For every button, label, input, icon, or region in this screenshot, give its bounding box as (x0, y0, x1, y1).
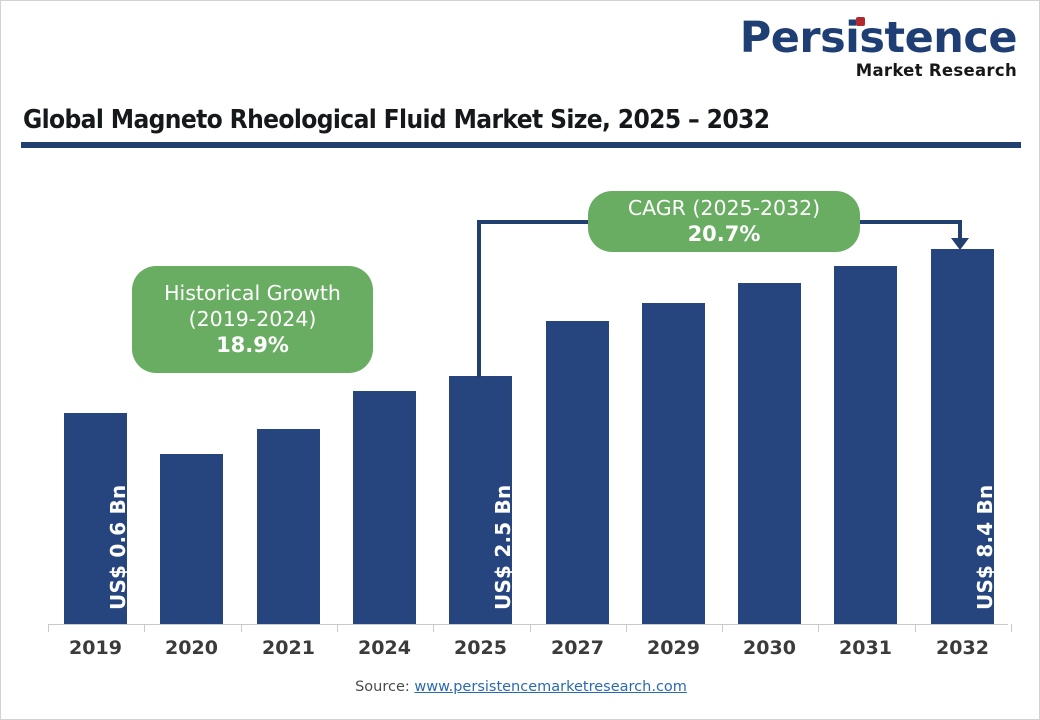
historical-growth-badge: Historical Growth (2019-2024) 18.9% (132, 266, 373, 373)
x-axis-tick-2029 (626, 624, 627, 632)
x-axis-label-2021: 2021 (241, 637, 336, 659)
cagr-connector-left-horizontal (477, 220, 593, 224)
x-axis-tick-2020 (144, 624, 145, 632)
cagr-line1: CAGR (2025-2032) (628, 195, 820, 221)
bar-value-label-2025: US$ 2.5 Bn (491, 485, 515, 610)
historical-growth-line2: (2019-2024) (189, 306, 317, 332)
bar-2027 (546, 321, 609, 624)
bar-2020 (160, 454, 223, 624)
x-axis-tick-end (1011, 624, 1012, 632)
bar-2031 (834, 266, 897, 624)
bar-value-label-2019: US$ 0.6 Bn (106, 485, 130, 610)
x-axis-label-2020: 2020 (144, 637, 239, 659)
x-axis-label-2024: 2024 (337, 637, 432, 659)
x-axis-tick-2021 (241, 624, 242, 632)
x-axis-label-2027: 2027 (530, 637, 625, 659)
bar-2024 (353, 391, 416, 624)
x-axis-tick-2019 (48, 624, 49, 632)
x-axis-label-2029: 2029 (626, 637, 721, 659)
x-axis-label-2030: 2030 (722, 637, 817, 659)
chart-page: Persistence Market Research Global Magne… (0, 0, 1040, 720)
x-axis-tick-2027 (530, 624, 531, 632)
x-axis-tick-2025 (433, 624, 434, 632)
cagr-connector-right-horizontal (856, 220, 962, 224)
bar-value-label-2032: US$ 8.4 Bn (973, 485, 997, 610)
bar-2029 (642, 303, 705, 624)
cagr-value: 20.7% (688, 221, 761, 248)
source-link[interactable]: www.persistencemarketresearch.com (414, 679, 687, 695)
source-prefix: Source: (355, 679, 414, 695)
x-axis-tick-2032 (915, 624, 916, 632)
cagr-connector-left-vertical (477, 220, 481, 378)
x-axis-tick-2030 (722, 624, 723, 632)
cagr-arrow-icon (951, 238, 969, 250)
x-axis-label-2019: 2019 (48, 637, 143, 659)
x-axis-label-2031: 2031 (818, 637, 913, 659)
historical-growth-line1: Historical Growth (164, 280, 341, 306)
x-axis-tick-2031 (818, 624, 819, 632)
x-axis-tick-2024 (337, 624, 338, 632)
cagr-badge: CAGR (2025-2032) 20.7% (588, 191, 860, 252)
x-axis-line (48, 624, 1008, 625)
x-axis-label-2025: 2025 (433, 637, 528, 659)
bar-2021 (257, 429, 320, 624)
historical-growth-value: 18.9% (216, 332, 289, 359)
x-axis-label-2032: 2032 (915, 637, 1010, 659)
source-caption: Source: www.persistencemarketresearch.co… (1, 679, 1040, 695)
bar-2030 (738, 283, 801, 624)
